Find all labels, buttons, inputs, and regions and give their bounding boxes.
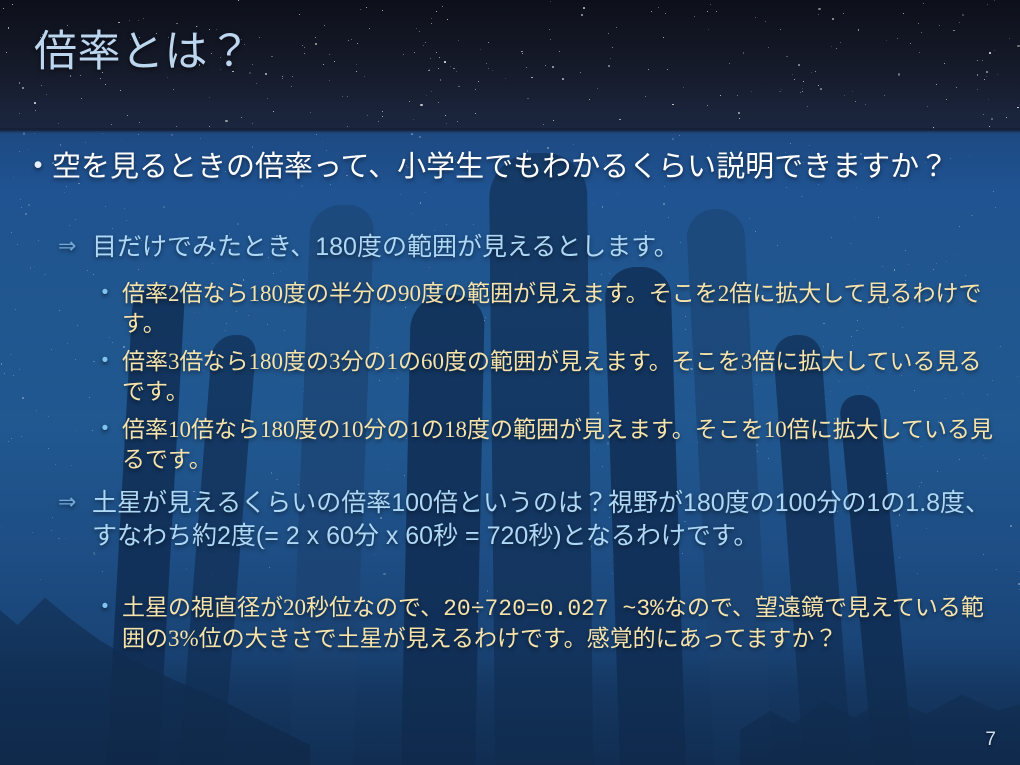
bullet-level3-text: 土星の視直径が20秒位なので、20÷720=0.027 ~3%なので、望遠鏡で見… <box>122 593 998 655</box>
page-title: 倍率とは？ <box>34 28 252 77</box>
saturn-calculation: 20÷720=0.027 ~3% <box>443 596 664 622</box>
bullet-level2-saturn-100x: ⇒ 土星が見えるくらいの倍率100倍というのは？視野が180度の100分の1の1… <box>58 487 996 552</box>
bullet-dot-icon: • <box>88 415 122 444</box>
title-area: 倍率とは？ <box>0 0 1020 131</box>
bullet-level2-eye-range: ⇒ 目だけでみたとき、180度の範囲が見えるとします。 <box>58 231 996 264</box>
bullet-level3-text: 倍率2倍なら180度の半分の90度の範囲が見えます。そこを2倍に拡大して見るわけ… <box>122 279 998 340</box>
bullet-level3-saturn-size: • 土星の視直径が20秒位なので、20÷720=0.027 ~3%なので、望遠鏡… <box>88 593 998 655</box>
bullet-level2-text: 目だけでみたとき、180度の範囲が見えるとします。 <box>92 231 996 264</box>
bullet-level1-question: • 空を見るときの倍率って、小学生でもわかるくらい説明できますか？ <box>24 149 996 186</box>
bullet-level3-text: 倍率10倍なら180度の10分の1の18度の範囲が見えます。そこを10倍に拡大し… <box>122 415 998 476</box>
bullet-level2-text: 土星が見えるくらいの倍率100倍というのは？視野が180度の100分の1の1.8… <box>92 487 996 552</box>
page-number: 7 <box>985 729 996 751</box>
slide-body: • 空を見るときの倍率って、小学生でもわかるくらい説明できますか？ ⇒ 目だけで… <box>0 131 1020 765</box>
saturn-text-part-a: 土星の視直径が20秒位なので、 <box>122 595 443 620</box>
arrow-right-icon: ⇒ <box>58 231 92 261</box>
bullet-dot-icon: • <box>88 593 122 622</box>
bullet-level3-mag2x: • 倍率2倍なら180度の半分の90度の範囲が見えます。そこを2倍に拡大して見る… <box>88 279 998 340</box>
bullet-dot-icon: • <box>24 149 52 182</box>
slide-canvas: 倍率とは？ • 空を見るときの倍率って、小学生でもわかるくらい説明できますか？ … <box>0 0 1020 765</box>
arrow-right-icon: ⇒ <box>58 487 92 517</box>
bullet-level3-text: 倍率3倍なら180度の3分の1の60度の範囲が見えます。そこを3倍に拡大している… <box>122 347 998 408</box>
bullet-dot-icon: • <box>88 347 122 376</box>
bullet-dot-icon: • <box>88 279 122 308</box>
bullet-level1-text: 空を見るときの倍率って、小学生でもわかるくらい説明できますか？ <box>52 149 996 186</box>
bullet-level3-mag10x: • 倍率10倍なら180度の10分の1の18度の範囲が見えます。そこを10倍に拡… <box>88 415 998 476</box>
bullet-level3-mag3x: • 倍率3倍なら180度の3分の1の60度の範囲が見えます。そこを3倍に拡大して… <box>88 347 998 408</box>
